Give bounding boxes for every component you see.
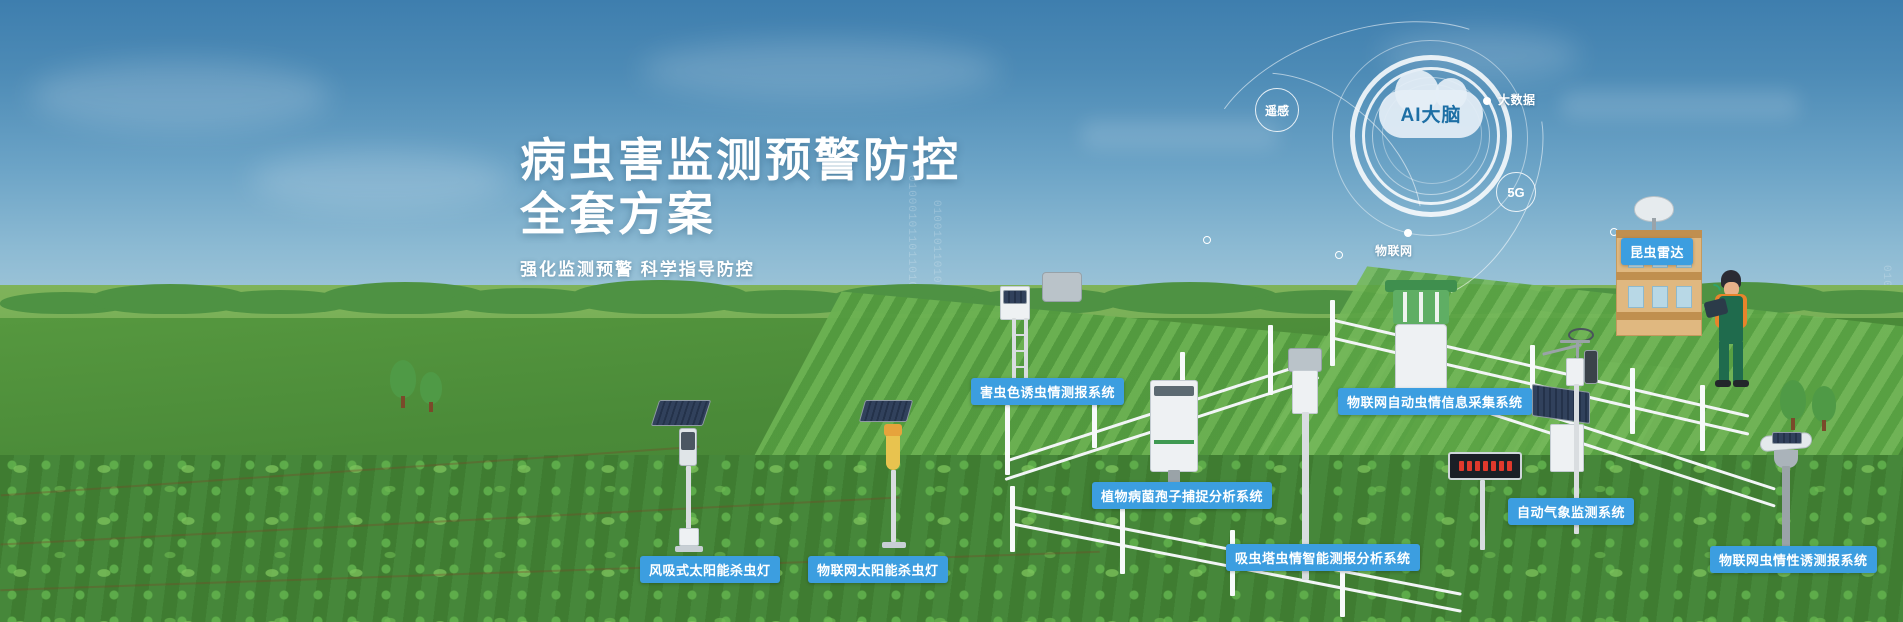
label-suction-tower-forecast[interactable]: 吸虫塔虫情智能测报分析系统 bbox=[1226, 544, 1420, 571]
label-spore-capture-analysis[interactable]: 植物病菌孢子捕捉分析系统 bbox=[1092, 482, 1272, 509]
cloud-decor bbox=[640, 40, 1000, 100]
label-auto-weather-monitor[interactable]: 自动气象监测系统 bbox=[1508, 498, 1634, 525]
ai-core-label: AI大脑 bbox=[1379, 100, 1483, 127]
cloud-decor bbox=[250, 150, 510, 210]
led-board-pole bbox=[1480, 480, 1485, 550]
node-5g-label: 5G bbox=[1507, 185, 1524, 200]
node-remote-sensing-label: 遥感 bbox=[1265, 102, 1289, 119]
led-display-board bbox=[1448, 452, 1522, 480]
label-wind-suction-solar-lamp[interactable]: 风吸式太阳能杀虫灯 bbox=[640, 556, 780, 583]
label-insect-radar[interactable]: 昆虫雷达 bbox=[1621, 238, 1693, 265]
label-iot-pheromone-forecast[interactable]: 物联网虫情性诱测报系统 bbox=[1710, 546, 1877, 573]
node-big-data-dot bbox=[1483, 97, 1491, 105]
hero-subtitle: 强化监测预警 科学指导防控 bbox=[520, 255, 961, 280]
crop-rows bbox=[0, 455, 1903, 622]
label-color-lure-forecast[interactable]: 害虫色诱虫情测报系统 bbox=[971, 378, 1124, 405]
hero-banner: 01000101101101001011010010 0100101101001… bbox=[0, 0, 1903, 622]
cloud-decor bbox=[30, 60, 330, 130]
node-iot-label: 物联网 bbox=[1375, 242, 1413, 259]
network-endpoint bbox=[1203, 236, 1211, 244]
hero-title-line-2: 全套方案 bbox=[520, 187, 961, 241]
node-remote-sensing[interactable]: 遥感 bbox=[1255, 88, 1299, 132]
node-5g[interactable]: 5G bbox=[1496, 172, 1536, 212]
node-big-data-label: 大数据 bbox=[1498, 91, 1536, 108]
label-iot-solar-lamp[interactable]: 物联网太阳能杀虫灯 bbox=[808, 556, 948, 583]
hero-title-block: 病虫害监测预警防控 全套方案 强化监测预警 科学指导防控 bbox=[520, 133, 961, 280]
label-iot-auto-pest-collection[interactable]: 物联网自动虫情信息采集系统 bbox=[1338, 388, 1532, 415]
node-iot-dot bbox=[1404, 229, 1412, 237]
network-endpoint bbox=[1335, 251, 1343, 259]
hero-title-line-1: 病虫害监测预警防控 bbox=[520, 133, 961, 187]
cloud-decor bbox=[1560, 90, 1800, 120]
